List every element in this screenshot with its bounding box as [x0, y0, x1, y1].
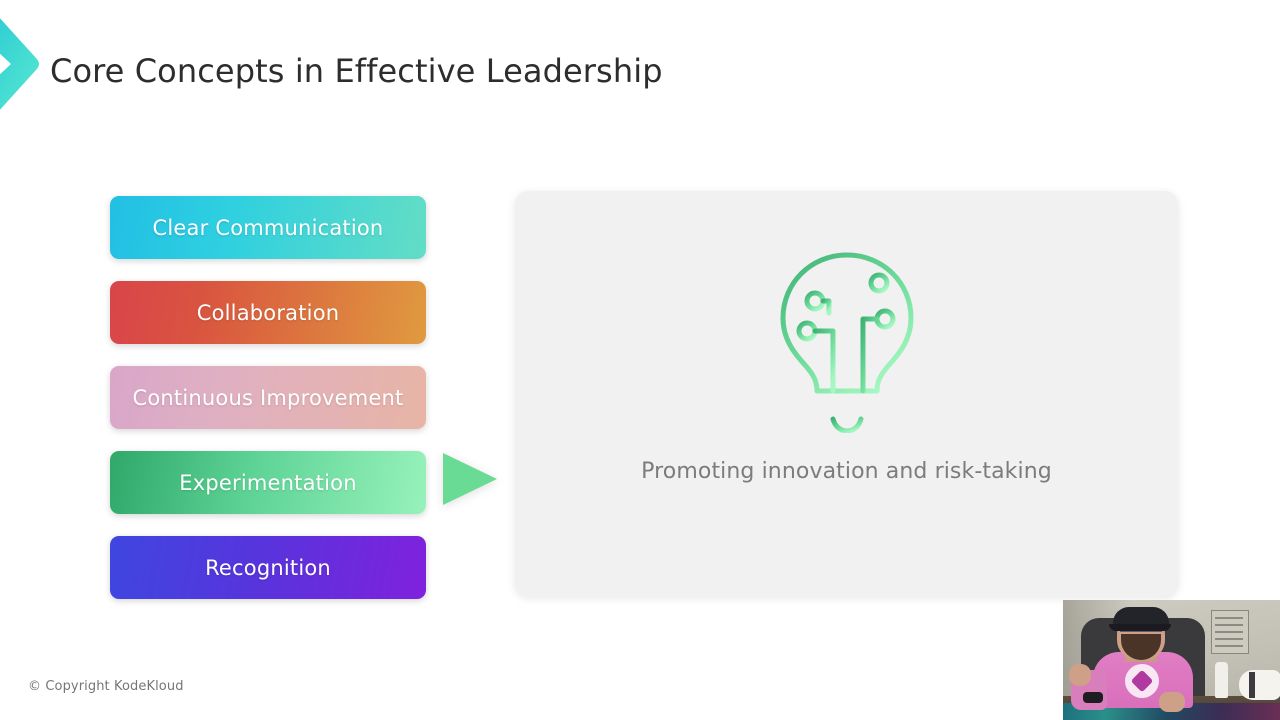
concept-bar-list: Clear Communication Collaboration Contin…	[110, 196, 426, 621]
concept-bar-label: Continuous Improvement	[133, 386, 404, 410]
webcam-bottle	[1215, 662, 1228, 698]
lightbulb-circuit-icon	[767, 243, 927, 437]
webcam-presenter-glasses	[1120, 630, 1162, 639]
concept-bar-label: Recognition	[205, 556, 331, 580]
brand-chevron-icon	[0, 8, 42, 120]
detail-card: Promoting innovation and risk-taking	[515, 191, 1178, 596]
concept-bar-clear-communication[interactable]: Clear Communication	[110, 196, 426, 259]
webcam-object	[1239, 670, 1280, 700]
webcam-object-band	[1249, 672, 1255, 698]
triangle-right-icon	[443, 453, 497, 505]
detail-icon-wrap	[515, 243, 1178, 437]
concept-bar-label: Clear Communication	[153, 216, 384, 240]
page-title: Core Concepts in Effective Leadership	[50, 52, 663, 90]
detail-caption: Promoting innovation and risk-taking	[515, 459, 1178, 484]
concept-bar-label: Experimentation	[179, 471, 356, 495]
webcam-presenter-cap-brim	[1109, 624, 1171, 631]
concept-bar-collaboration[interactable]: Collaboration	[110, 281, 426, 344]
copyright-note: © Copyright KodeKloud	[28, 679, 184, 694]
webcam-presenter-hand-left	[1069, 664, 1091, 686]
concept-bar-label: Collaboration	[197, 301, 340, 325]
webcam-presenter-watch	[1083, 692, 1103, 703]
webcam-wall-poster	[1211, 610, 1249, 654]
webcam-presenter-hand-right	[1159, 692, 1185, 712]
slide-header: Core Concepts in Effective Leadership	[0, 0, 1280, 130]
concept-bar-continuous-improvement[interactable]: Continuous Improvement	[110, 366, 426, 429]
concept-bar-recognition[interactable]: Recognition	[110, 536, 426, 599]
concept-bar-experimentation[interactable]: Experimentation	[110, 451, 426, 514]
presenter-webcam-overlay[interactable]	[1063, 600, 1280, 720]
